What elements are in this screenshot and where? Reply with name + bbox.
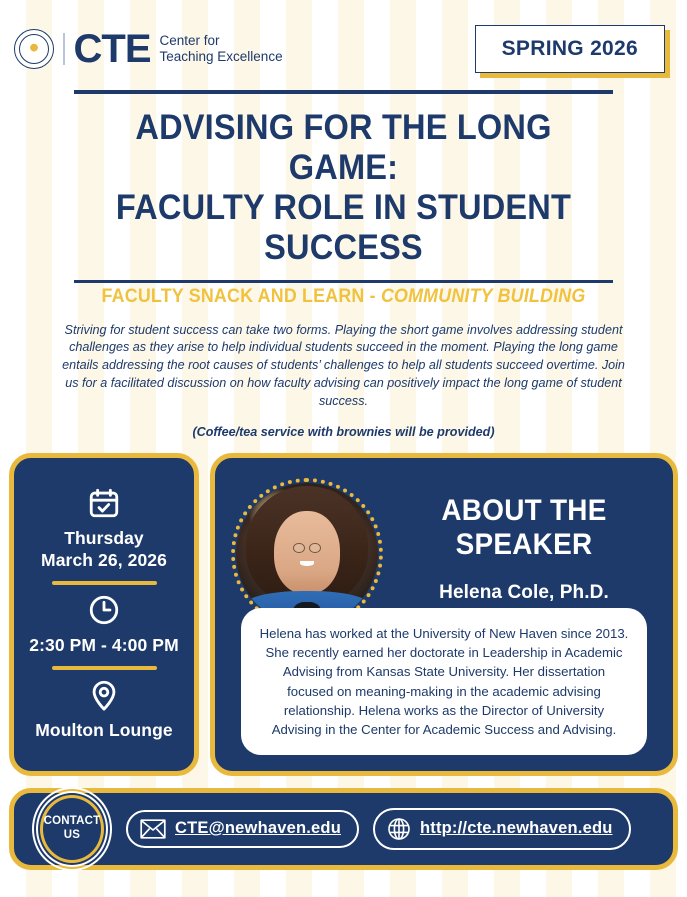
event-note: (Coffee/tea service with brownies will b… [0, 411, 687, 439]
event-title-line2: Faculty Role in Student Success [93, 188, 594, 268]
website-text[interactable]: http://cte.newhaven.edu [420, 819, 613, 838]
location-text: Moulton Lounge [24, 720, 184, 742]
university-seal-icon [14, 29, 54, 69]
event-subtitle: Faculty Snack and Learn - Community Buil… [90, 283, 597, 308]
time-text: 2:30 PM - 4:00 PM [24, 635, 184, 657]
event-info-card: Thursday March 26, 2026 2:30 PM - 4:00 P… [9, 453, 199, 776]
info-separator-1 [52, 581, 157, 585]
email-pill[interactable]: CTE@newhaven.edu [126, 810, 359, 848]
cte-subtitle-line2: Teaching Excellence [160, 49, 283, 65]
contact-footer: CONTACT US CTE@newhaven.edu http: [9, 788, 678, 870]
speaker-header-row: About the Speaker Helena Cole, Ph.D. Dir… [231, 476, 657, 630]
header: CTE Center for Teaching Excellence SPRIN… [0, 0, 687, 84]
title-block: Advising for the Long Game: Faculty Role… [0, 84, 687, 308]
info-separator-2 [52, 666, 157, 670]
date-line2: March 26, 2026 [24, 550, 184, 572]
time-block: 2:30 PM - 4:00 PM [24, 593, 184, 657]
cte-logo-subtitle: Center for Teaching Excellence [160, 33, 283, 66]
contact-us-badge: CONTACT US [32, 787, 112, 871]
website-pill[interactable]: http://cte.newhaven.edu [373, 808, 631, 850]
speaker-name: Helena Cole, Ph.D. [391, 582, 657, 604]
clock-icon [87, 593, 121, 627]
event-title: Advising for the Long Game: Faculty Role… [93, 94, 594, 280]
event-title-line1: Advising for the Long Game: [93, 108, 594, 188]
about-speaker-title: About the Speaker [400, 494, 647, 562]
speaker-heading-block: About the Speaker Helena Cole, Ph.D. Dir… [391, 476, 657, 623]
footer-wrapper: CONTACT US CTE@newhaven.edu http: [0, 776, 687, 880]
envelope-icon [140, 819, 166, 839]
flyer-page: CTE Center for Teaching Excellence SPRIN… [0, 0, 687, 897]
term-badge-wrapper: SPRING 2026 [475, 25, 665, 73]
contact-label-line2: US [64, 829, 80, 843]
cte-logo-text: CTE [74, 29, 151, 69]
contact-label-line1: CONTACT [44, 815, 101, 829]
term-badge: SPRING 2026 [475, 25, 665, 73]
location-block: Moulton Lounge [24, 678, 184, 742]
event-subtitle-plain: Faculty Snack and Learn - [102, 286, 381, 307]
brand-lockup: CTE Center for Teaching Excellence [14, 29, 283, 69]
email-text[interactable]: CTE@newhaven.edu [175, 819, 341, 838]
contact-us-label: CONTACT US [32, 787, 112, 871]
calendar-check-icon [87, 486, 121, 520]
date-line1: Thursday [24, 528, 184, 550]
map-pin-icon [87, 678, 121, 712]
details-section: Thursday March 26, 2026 2:30 PM - 4:00 P… [0, 439, 687, 776]
speaker-card: About the Speaker Helena Cole, Ph.D. Dir… [210, 453, 678, 776]
event-subtitle-italic: Community Building [381, 286, 585, 307]
brand-divider [63, 33, 65, 65]
speaker-bio: Helena has worked at the University of N… [241, 608, 647, 755]
event-description: Striving for student success can take tw… [0, 308, 687, 411]
date-block: Thursday March 26, 2026 [24, 486, 184, 572]
cte-subtitle-line1: Center for [160, 33, 283, 49]
globe-icon [387, 817, 411, 841]
